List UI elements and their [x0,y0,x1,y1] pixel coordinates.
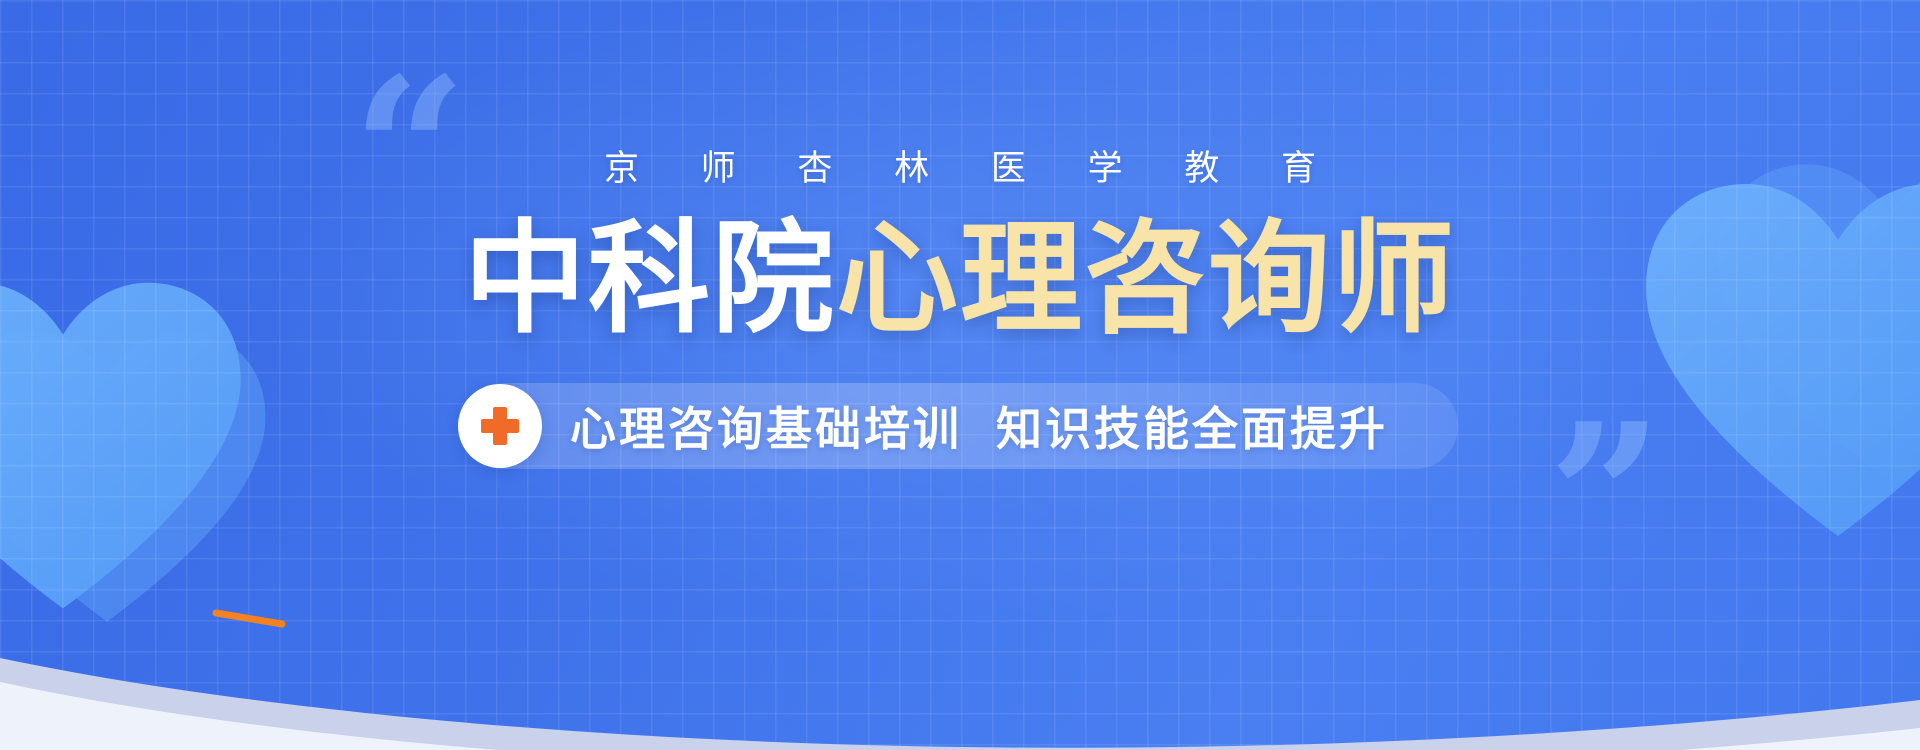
title-segment-white: 中科院 [464,211,836,347]
tagline-part-2: 知识技能全面提升 [996,403,1388,455]
promo-banner: “ ” 京 师 杏 林 医 学 教 育 中科院心理咨询师 心理咨询基础培训知识技… [0,0,1920,750]
page-title: 中科院心理咨询师 [464,217,1456,341]
tagline-part-1: 心理咨询基础培训 [570,403,962,455]
bottom-wave-decoration [0,550,1920,750]
brand-subtitle: 京 师 杏 林 医 学 教 育 [578,140,1342,191]
tagline-pill: 心理咨询基础培训知识技能全面提升 [462,383,1458,469]
title-segment-gold: 心理咨询师 [836,211,1456,347]
medical-cross-icon [458,384,542,468]
tagline-text: 心理咨询基础培训知识技能全面提升 [570,393,1388,459]
